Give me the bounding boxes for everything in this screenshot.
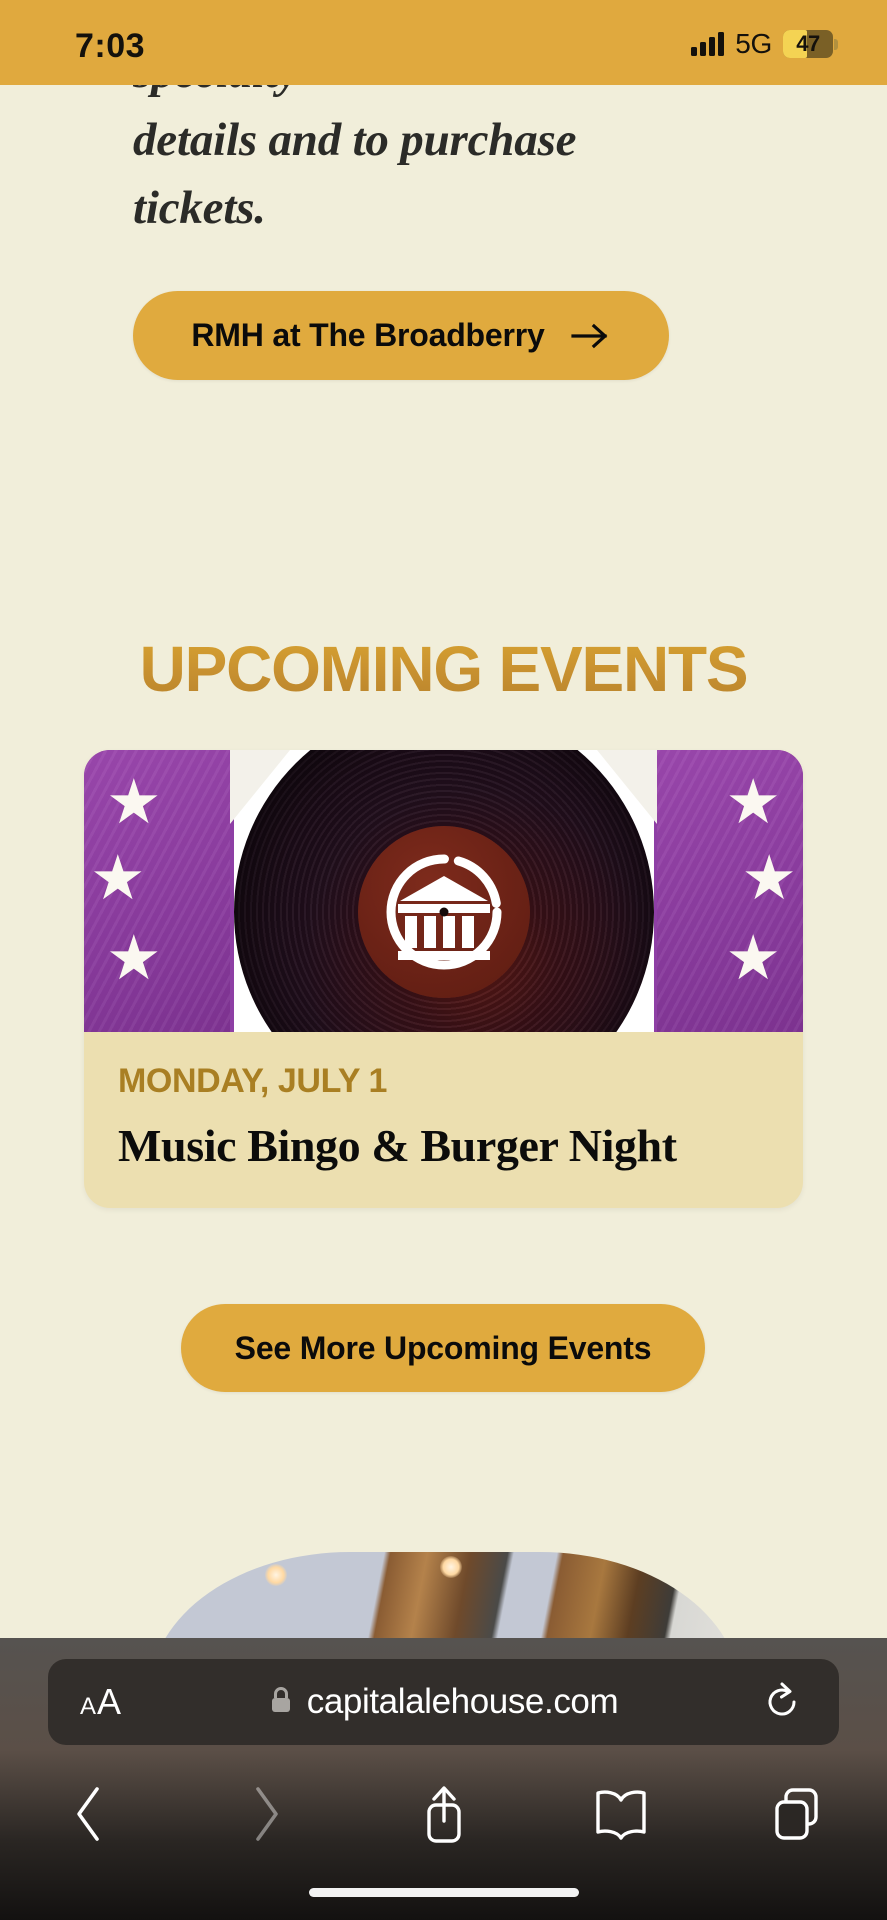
safari-browser-chrome: A A capitalalehouse.com [0,1638,887,1920]
status-bar-clock: 7:03 [75,27,145,66]
url-display[interactable]: capitalalehouse.com [48,1682,839,1722]
address-bar[interactable]: A A capitalalehouse.com [48,1659,839,1745]
star-icon: ★ [90,848,146,910]
phone-screen: 7:03 5G 47 specialty details and to purc… [0,0,887,1920]
star-icon: ★ [106,928,162,990]
intro-paragraph: specialty details and to purchase ticket… [133,85,773,242]
home-indicator [309,1888,579,1897]
event-card-text: MONDAY, JULY 1 Music Bingo & Burger Nigh… [84,1032,803,1172]
intro-clipped-text: specialty [133,85,298,106]
lock-icon [269,1685,293,1720]
rmh-at-the-broadberry-button[interactable]: RMH at The Broadberry [133,291,669,380]
back-button[interactable] [0,1766,177,1862]
vinyl-disc [234,750,654,1032]
tabs-button[interactable] [710,1766,887,1862]
event-date: MONDAY, JULY 1 [118,1062,769,1101]
see-more-upcoming-events-button[interactable]: See More Upcoming Events [181,1304,705,1392]
pendant-light-icon [265,1564,287,1586]
purple-panel-left: ★ ★ ★ [84,750,230,1032]
upcoming-events-heading: UPCOMING EVENTS [0,632,887,706]
cellular-signal-icon [691,32,724,56]
star-icon: ★ [725,928,781,990]
network-type-label: 5G [735,28,772,60]
url-text: capitalalehouse.com [307,1682,619,1722]
web-page-content: specialty details and to purchase ticket… [0,85,887,1638]
pendant-light-icon [440,1556,462,1578]
event-title: Music Bingo & Burger Night [118,1119,769,1172]
white-corner-left [230,750,290,824]
forward-button[interactable] [177,1766,354,1862]
battery-icon: 47 [783,30,833,58]
status-bar: 7:03 5G 47 [0,0,887,85]
battery-nub [834,39,838,50]
bookmarks-button[interactable] [532,1766,709,1862]
see-more-button-label: See More Upcoming Events [235,1330,652,1367]
rmh-button-label: RMH at The Broadberry [191,317,544,354]
venue-photo-preview [150,1552,740,1638]
star-icon: ★ [725,772,781,834]
intro-clipped-line: specialty [133,85,773,106]
white-corner-right [597,750,657,824]
browser-toolbar [0,1766,887,1862]
status-bar-indicators: 5G 47 [691,27,833,61]
intro-line-2: tickets. [133,174,773,242]
event-card-image: ★ ★ ★ ★ ★ ★ [84,750,803,1032]
share-button[interactable] [355,1766,532,1862]
star-icon: ★ [106,772,162,834]
purple-panel-right: ★ ★ ★ [657,750,803,1032]
reload-icon[interactable] [761,1681,803,1723]
vinyl-record-graphic [234,750,654,1032]
record-spindle-hole [439,908,448,917]
star-icon: ★ [741,848,797,910]
battery-percent-label: 47 [783,30,833,58]
intro-line-1: details and to purchase [133,106,773,174]
event-card[interactable]: ★ ★ ★ ★ ★ ★ [84,750,803,1208]
arrow-right-icon [571,322,611,350]
